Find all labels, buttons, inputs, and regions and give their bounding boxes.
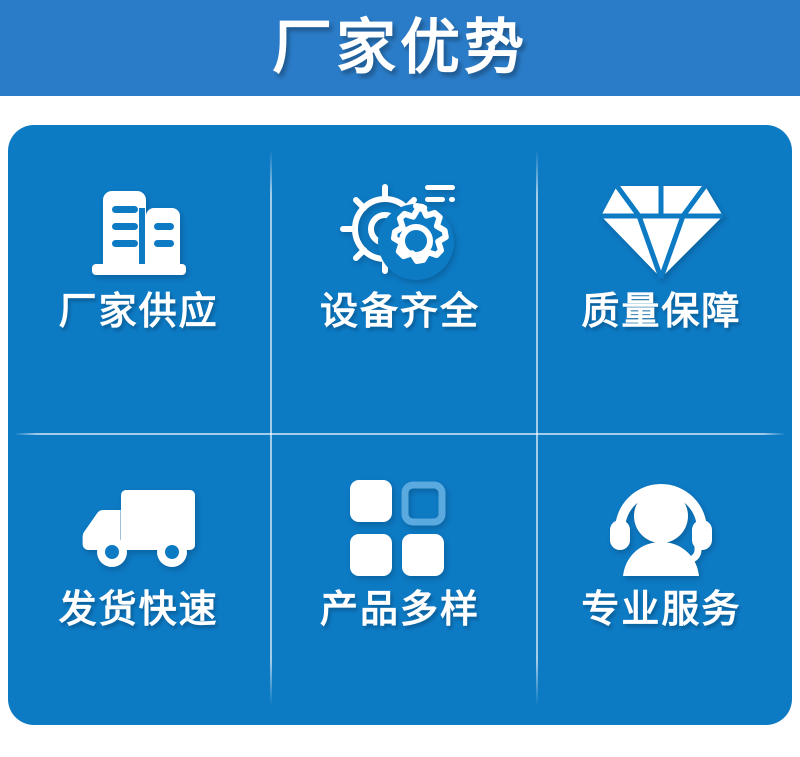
divider-vertical-left — [270, 150, 272, 705]
divider-horizontal — [14, 433, 786, 435]
header-banner: 厂家优势 — [0, 0, 800, 96]
feature-label: 厂家供应 — [59, 293, 219, 331]
feature-cell-professional-service[interactable]: 专业服务 — [531, 425, 792, 725]
four-squares-icon — [330, 469, 470, 587]
feature-label: 专业服务 — [581, 591, 741, 629]
feature-label: 产品多样 — [320, 591, 480, 629]
feature-cell-factory-supply[interactable]: 厂家供应 — [8, 125, 269, 425]
feature-cell-quality-guarantee[interactable]: 质量保障 — [531, 125, 792, 425]
feature-label: 发货快速 — [59, 591, 219, 629]
feature-cell-fast-shipping[interactable]: 发货快速 — [8, 425, 269, 725]
features-panel: 厂家供应 — [8, 125, 792, 725]
headset-support-icon — [591, 469, 731, 587]
feature-label: 质量保障 — [581, 293, 741, 331]
features-grid: 厂家供应 — [8, 125, 792, 725]
feature-cell-full-equipment[interactable]: 设备齐全 — [269, 125, 530, 425]
factory-building-icon — [69, 171, 209, 289]
divider-vertical-right — [536, 150, 538, 705]
feature-cell-diverse-products[interactable]: 产品多样 — [269, 425, 530, 725]
promo-banner-page: 厂家优势 — [0, 0, 800, 757]
feature-label: 设备齐全 — [320, 293, 480, 331]
gears-icon — [330, 171, 470, 289]
diamond-icon — [591, 171, 731, 289]
page-title: 厂家优势 — [272, 18, 528, 78]
delivery-truck-icon — [69, 469, 209, 587]
